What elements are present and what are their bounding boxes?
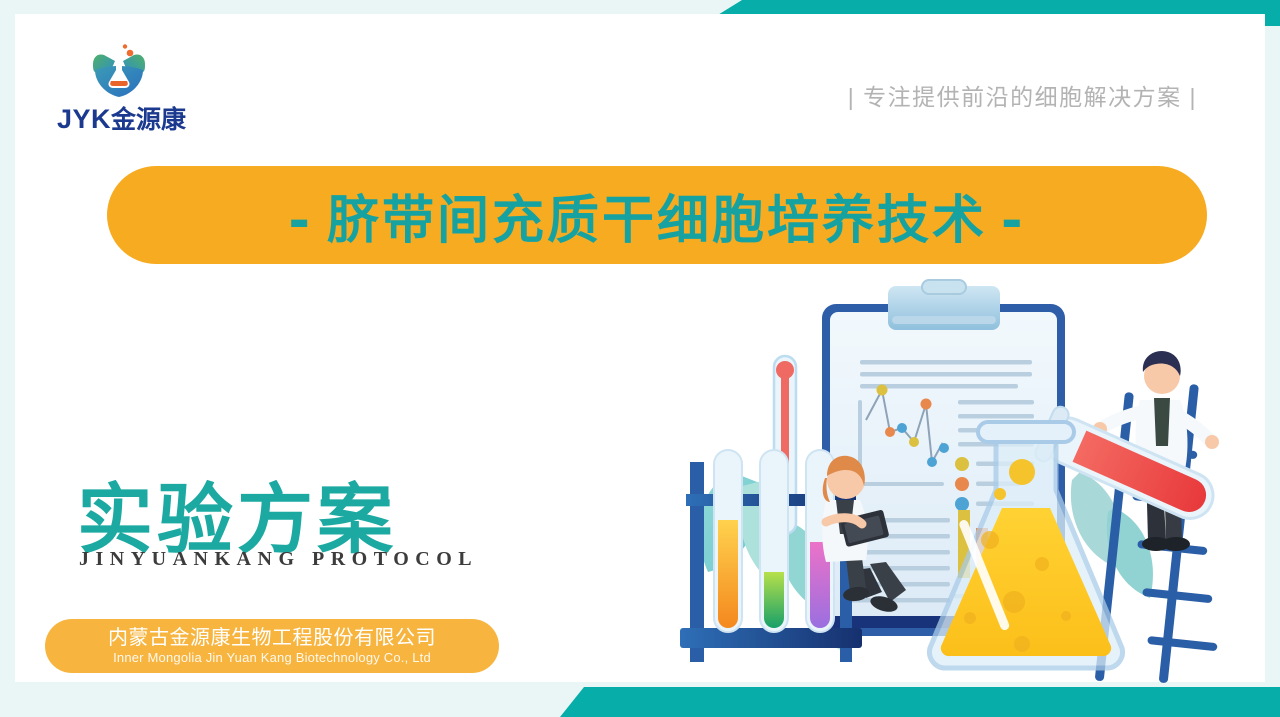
title-dash-left: - <box>274 191 327 251</box>
test-tube-green <box>760 450 788 632</box>
brand-logo-text: JYK金源康 <box>57 100 257 136</box>
company-name-en: Inner Mongolia Jin Yuan Kang Biotechnolo… <box>113 650 431 666</box>
company-name-cn: 内蒙古金源康生物工程股份有限公司 <box>108 627 436 649</box>
company-badge: 内蒙古金源康生物工程股份有限公司 Inner Mongolia Jin Yuan… <box>45 619 499 673</box>
slide-title-banner: -脐带间充质干细胞培养技术- <box>107 166 1207 264</box>
title-text: 脐带间充质干细胞培养技术 <box>327 191 987 251</box>
brand-logo-cn: 金源康 <box>111 106 186 134</box>
subtitle-english: JINYUANKANG PROTOCOL <box>79 548 478 571</box>
title-dash-right: - <box>987 191 1040 251</box>
laboratory-research-illustration <box>670 272 1240 696</box>
flask-hexagon-logo-icon <box>85 44 153 102</box>
brand-logo-latin: JYK <box>57 104 111 134</box>
page-title: -脐带间充质干细胞培养技术- <box>274 178 1039 253</box>
brand-tagline: | 专注提供前沿的细胞解决方案 | <box>848 78 1197 112</box>
document-text-lines <box>860 360 1032 389</box>
slide-card: JYK金源康 | 专注提供前沿的细胞解决方案 | -脐带间充质干细胞培养技术- … <box>15 14 1265 682</box>
slide-canvas: JYK金源康 | 专注提供前沿的细胞解决方案 | -脐带间充质干细胞培养技术- … <box>0 0 1280 717</box>
test-tube-orange <box>714 450 742 632</box>
brand-logo[interactable]: JYK金源康 <box>57 44 257 136</box>
